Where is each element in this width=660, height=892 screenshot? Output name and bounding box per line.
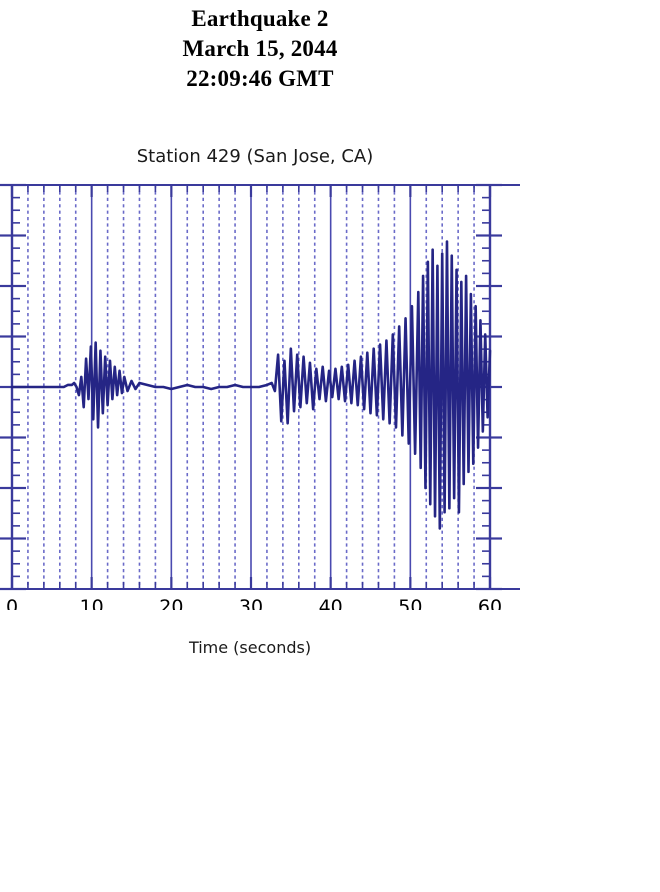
- chart-subtitle-station: Station 429 (San Jose, CA): [0, 146, 510, 167]
- x-tick-label: 0: [6, 596, 18, 610]
- title-line-event: Earthquake 2: [0, 4, 520, 34]
- x-tick-label: 20: [159, 596, 183, 610]
- seismogram-page: Earthquake 2 March 15, 2044 22:09:46 GMT…: [0, 0, 660, 892]
- x-tick-labels-group: 0102030405060: [6, 596, 502, 610]
- title-line-date: March 15, 2044: [0, 34, 520, 64]
- x-tick-label: 60: [478, 596, 502, 610]
- x-tick-label: 50: [398, 596, 422, 610]
- seismogram-plot: 0102030405060: [0, 170, 520, 610]
- title-line-time: 22:09:46 GMT: [0, 64, 520, 94]
- x-tick-label: 30: [239, 596, 263, 610]
- x-tick-label: 40: [319, 596, 343, 610]
- seismogram-svg: 0102030405060: [0, 170, 520, 610]
- x-tick-label: 10: [80, 596, 104, 610]
- chart-title-block: Earthquake 2 March 15, 2044 22:09:46 GMT: [0, 4, 520, 94]
- x-axis-title: Time (seconds): [0, 638, 500, 657]
